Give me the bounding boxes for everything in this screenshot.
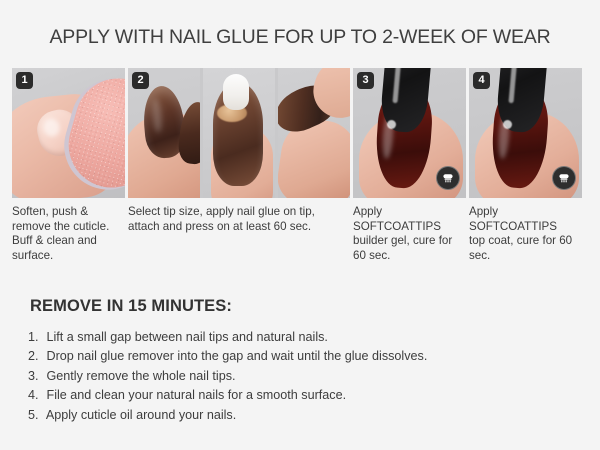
list-item-text: File and clean your natural nails for a …	[47, 388, 347, 402]
list-item: 1. Lift a small gap between nail tips an…	[28, 328, 573, 347]
step-badge-3: 3	[357, 72, 374, 89]
list-item-text: Gently remove the whole nail tips.	[47, 369, 236, 383]
steps-image-strip: 1 2	[12, 68, 588, 198]
step-badge-2: 2	[132, 72, 149, 89]
remove-section-heading: REMOVE IN 15 MINUTES:	[30, 297, 232, 316]
gel-dab-shape	[387, 120, 396, 129]
list-item: 2. Drop nail glue remover into the gap a…	[28, 347, 573, 366]
step-badge-1: 1	[16, 72, 33, 89]
step-2-photo-b	[203, 68, 275, 198]
topcoat-dab-shape	[503, 120, 512, 129]
step-panel-4: 4	[469, 68, 582, 198]
step-caption-4: Apply SOFTCOATTIPS top coat, cure for 60…	[469, 205, 582, 285]
step-panel-2: 2	[128, 68, 350, 198]
list-item-text: Lift a small gap between nail tips and n…	[47, 330, 328, 344]
step-panel-3: 3	[353, 68, 466, 198]
list-item-number: 5.	[28, 406, 43, 425]
step-caption-2: Select tip size, apply nail glue on tip,…	[128, 205, 350, 285]
step-panel-1: 1	[12, 68, 125, 198]
step-captions: Soften, push & remove the cuticle. Buff …	[12, 205, 588, 285]
list-item-number: 1.	[28, 328, 43, 347]
list-item: 3. Gently remove the whole nail tips.	[28, 367, 573, 386]
uv-lamp-icon	[436, 166, 460, 190]
list-item-number: 4.	[28, 386, 43, 405]
list-item-text: Apply cuticle oil around your nails.	[46, 408, 236, 422]
step-2-photo-c	[278, 68, 350, 198]
step-2-photo-a: 2	[128, 68, 200, 198]
list-item: 5. Apply cuticle oil around your nails.	[28, 406, 573, 425]
list-item-text: Drop nail glue remover into the gap and …	[47, 349, 428, 363]
uv-lamp-icon	[552, 166, 576, 190]
remove-steps-list: 1. Lift a small gap between nail tips an…	[28, 328, 573, 425]
glue-bottle-shape	[223, 74, 249, 110]
step-caption-1: Soften, push & remove the cuticle. Buff …	[12, 205, 125, 285]
step-badge-4: 4	[473, 72, 490, 89]
list-item-number: 3.	[28, 367, 43, 386]
page-title: APPLY WITH NAIL GLUE FOR UP TO 2-WEEK OF…	[0, 26, 600, 49]
list-item: 4. File and clean your natural nails for…	[28, 386, 573, 405]
step-caption-3: Apply SOFTCOATTIPS builder gel, cure for…	[353, 205, 466, 285]
list-item-number: 2.	[28, 347, 43, 366]
